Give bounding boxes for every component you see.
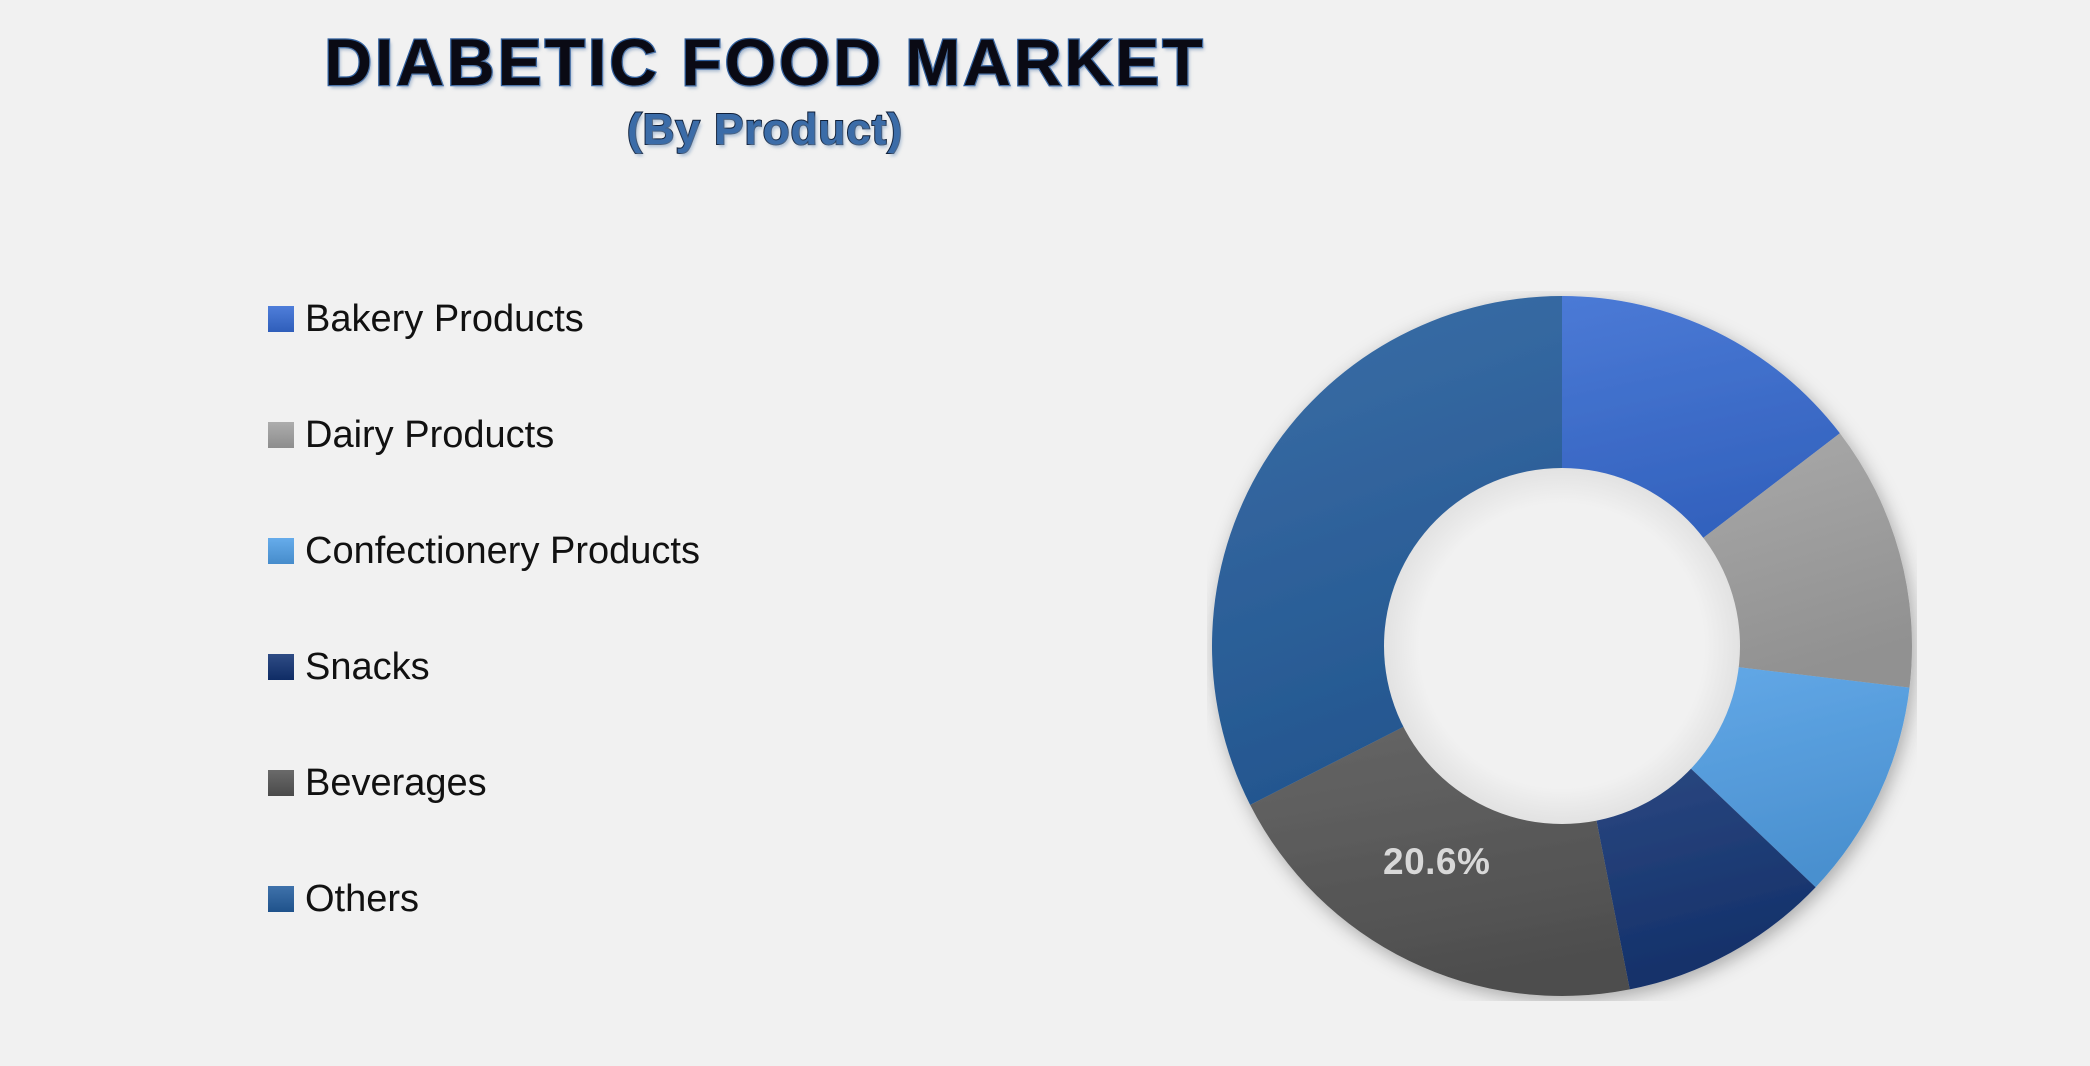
legend-swatch-icon [268, 770, 294, 796]
title-block: DIABETIC FOOD MARKET (By Product) [0, 28, 1530, 155]
legend-item-others[interactable]: Others [268, 882, 888, 915]
legend-item-label: Beverages [305, 764, 487, 802]
chart-subtitle: (By Product) [0, 105, 1530, 155]
legend-swatch-icon [268, 886, 294, 912]
legend-swatch-icon [268, 654, 294, 680]
legend-swatch-icon [268, 306, 294, 332]
donut-chart [1207, 291, 1917, 1001]
chart-legend: Bakery Products Dairy Products Confectio… [268, 302, 888, 915]
slice-value-label-beverages: 20.6% [1383, 841, 1490, 883]
chart-title: DIABETIC FOOD MARKET [0, 28, 1530, 97]
donut-hole [1384, 468, 1740, 824]
legend-swatch-icon [268, 422, 294, 448]
legend-item-label: Bakery Products [305, 300, 584, 338]
legend-item-label: Others [305, 880, 419, 918]
legend-item-dairy-products[interactable]: Dairy Products [268, 418, 888, 451]
legend-item-snacks[interactable]: Snacks [268, 650, 888, 683]
legend-swatch-icon [268, 538, 294, 564]
legend-item-label: Dairy Products [305, 416, 554, 454]
legend-item-beverages[interactable]: Beverages [268, 766, 888, 799]
legend-item-label: Confectionery Products [305, 532, 700, 570]
legend-item-bakery-products[interactable]: Bakery Products [268, 302, 888, 335]
legend-item-label: Snacks [305, 648, 430, 686]
donut-chart-svg [1207, 291, 1917, 1001]
chart-canvas: DIABETIC FOOD MARKET (By Product) Bakery… [0, 0, 2090, 1066]
legend-item-confectionery-products[interactable]: Confectionery Products [268, 534, 888, 567]
